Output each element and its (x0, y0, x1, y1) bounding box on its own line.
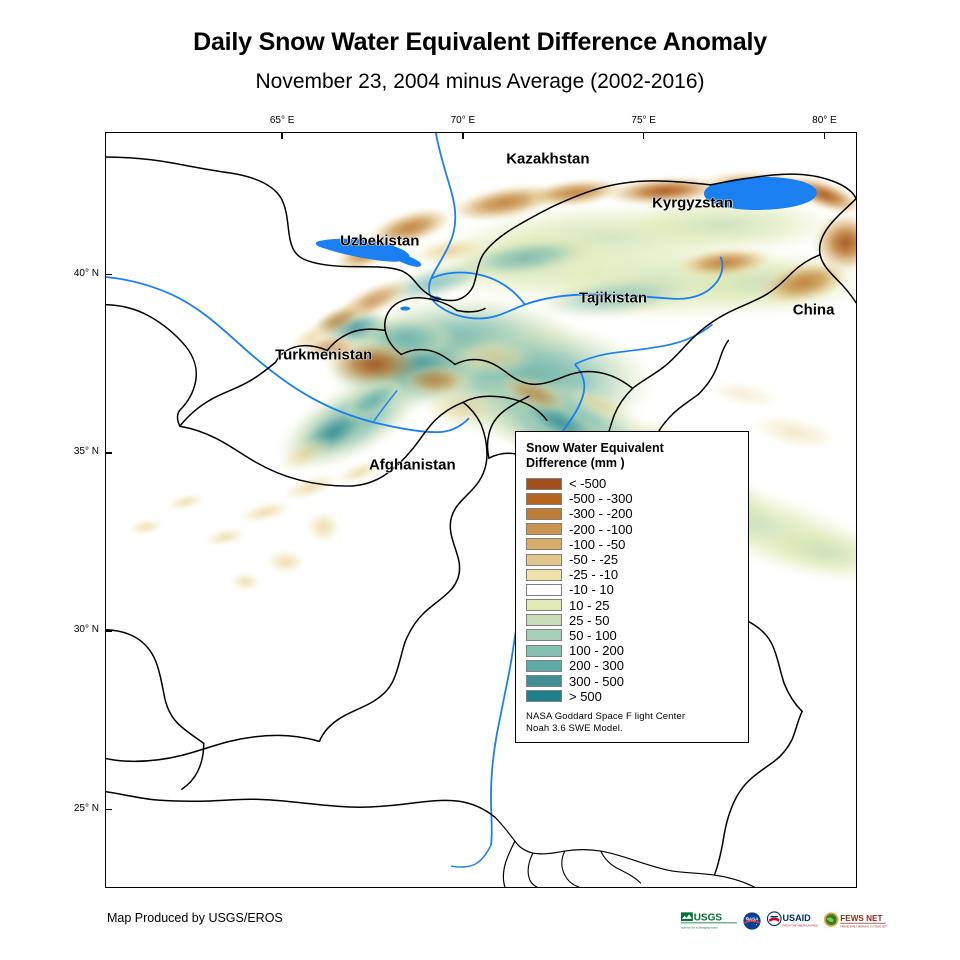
lat-tick-mark (105, 452, 112, 454)
legend-row: -100 - -50 (526, 537, 738, 552)
legend-swatch (526, 599, 562, 611)
agency-logos: USGS science for a changing world NASA U… (681, 910, 887, 932)
svg-text:USAID: USAID (783, 913, 812, 923)
legend-row: -500 - -300 (526, 491, 738, 506)
map-credit: Map Produced by USGS/EROS (107, 911, 283, 925)
legend-label: -500 - -300 (569, 492, 633, 505)
lon-tick-mark (643, 132, 645, 139)
legend-label: -100 - -50 (569, 538, 625, 551)
country-label-uzbekistan: Uzbekistan (340, 232, 419, 249)
legend-swatch (526, 569, 562, 581)
legend-swatch (526, 523, 562, 535)
legend-title-line1: Snow Water Equivalent (526, 441, 738, 456)
lat-tick-label: 30° N (49, 624, 99, 635)
legend-label: < -500 (569, 477, 606, 490)
lon-tick-mark (824, 132, 826, 139)
usaid-logo[interactable]: USAID FROM THE AMERICAN PEOPLE (767, 911, 818, 931)
legend-row: -50 - -25 (526, 552, 738, 567)
legend-row: 10 - 25 (526, 598, 738, 613)
page-subtitle: November 23, 2004 minus Average (2002-20… (0, 70, 960, 94)
legend-row: 300 - 500 (526, 673, 738, 688)
legend-swatch (526, 478, 562, 490)
legend-swatch (526, 493, 562, 505)
svg-text:FAMINE EARLY WARNING SYSTEMS N: FAMINE EARLY WARNING SYSTEMS NETWORK (841, 925, 887, 928)
lon-tick-mark (462, 132, 464, 139)
country-label-turkmenistan: Turkmenistan (275, 346, 372, 363)
nasa-logo[interactable]: NASA (742, 911, 762, 931)
fewsnet-logo[interactable]: FEWS NET FAMINE EARLY WARNING SYSTEMS NE… (823, 911, 887, 931)
legend-swatch (526, 554, 562, 566)
legend-label: -10 - 10 (569, 583, 614, 596)
legend-label: 100 - 200 (569, 644, 624, 657)
country-label-kazakhstan: Kazakhstan (506, 150, 589, 167)
legend-label: 300 - 500 (569, 675, 624, 688)
legend-swatch (526, 508, 562, 520)
svg-text:FEWS NET: FEWS NET (841, 914, 883, 923)
country-label-afghanistan: Afghanistan (369, 457, 456, 474)
legend-panel: Snow Water Equivalent Difference (mm ) <… (515, 431, 749, 743)
legend-class-list: < -500-500 - -300-300 - -200-200 - -100-… (526, 476, 738, 704)
legend-swatch (526, 538, 562, 550)
legend-row: -200 - -100 (526, 522, 738, 537)
legend-source: NASA Goddard Space F light Center Noah 3… (526, 711, 738, 736)
country-label-china: China (793, 302, 835, 319)
country-label-kyrgyzstan: Kyrgyzstan (652, 195, 733, 212)
legend-label: 200 - 300 (569, 659, 624, 672)
legend-source-line2: Noah 3.6 SWE Model. (526, 723, 738, 736)
legend-row: -300 - -200 (526, 506, 738, 521)
lon-tick-mark (281, 132, 283, 139)
legend-source-line1: NASA Goddard Space F light Center (526, 711, 738, 724)
page-title: Daily Snow Water Equivalent Difference A… (0, 28, 960, 57)
legend-row: 50 - 100 (526, 628, 738, 643)
lat-tick-label: 35° N (49, 446, 99, 457)
legend-row: > 500 (526, 689, 738, 704)
legend-label: > 500 (569, 690, 602, 703)
legend-label: -200 - -100 (569, 523, 633, 536)
legend-label: 10 - 25 (569, 599, 609, 612)
lon-tick-label: 65° E (254, 115, 310, 126)
legend-swatch (526, 645, 562, 657)
legend-title: Snow Water Equivalent Difference (mm ) (526, 441, 738, 471)
legend-label: -50 - -25 (569, 553, 618, 566)
usgs-logo[interactable]: USGS science for a changing world (681, 911, 737, 931)
legend-row: < -500 (526, 476, 738, 491)
lat-tick-mark (105, 809, 112, 811)
lat-tick-label: 40° N (49, 268, 99, 279)
svg-text:science for a changing world: science for a changing world (681, 925, 718, 929)
legend-label: 50 - 100 (569, 629, 617, 642)
lat-tick-mark (105, 630, 112, 632)
svg-text:USGS: USGS (694, 913, 723, 924)
legend-swatch (526, 675, 562, 687)
lon-tick-label: 80° E (796, 115, 852, 126)
legend-label: 25 - 50 (569, 614, 609, 627)
legend-row: -25 - -10 (526, 567, 738, 582)
map-page: Daily Snow Water Equivalent Difference A… (0, 0, 960, 960)
lon-tick-label: 75° E (616, 115, 672, 126)
lat-tick-label: 25° N (49, 803, 99, 814)
country-label-tajikistan: Tajikistan (579, 289, 647, 306)
lat-tick-mark (105, 274, 112, 276)
lon-tick-label: 70° E (435, 115, 491, 126)
svg-text:FROM THE AMERICAN PEOPLE: FROM THE AMERICAN PEOPLE (783, 923, 818, 927)
legend-label: -300 - -200 (569, 507, 633, 520)
legend-swatch (526, 660, 562, 672)
legend-row: -10 - 10 (526, 582, 738, 597)
legend-swatch (526, 629, 562, 641)
legend-label: -25 - -10 (569, 568, 618, 581)
legend-swatch (526, 614, 562, 626)
legend-row: 25 - 50 (526, 613, 738, 628)
legend-swatch (526, 584, 562, 596)
legend-swatch (526, 690, 562, 702)
legend-row: 100 - 200 (526, 643, 738, 658)
legend-row: 200 - 300 (526, 658, 738, 673)
legend-title-line2: Difference (mm ) (526, 456, 738, 471)
